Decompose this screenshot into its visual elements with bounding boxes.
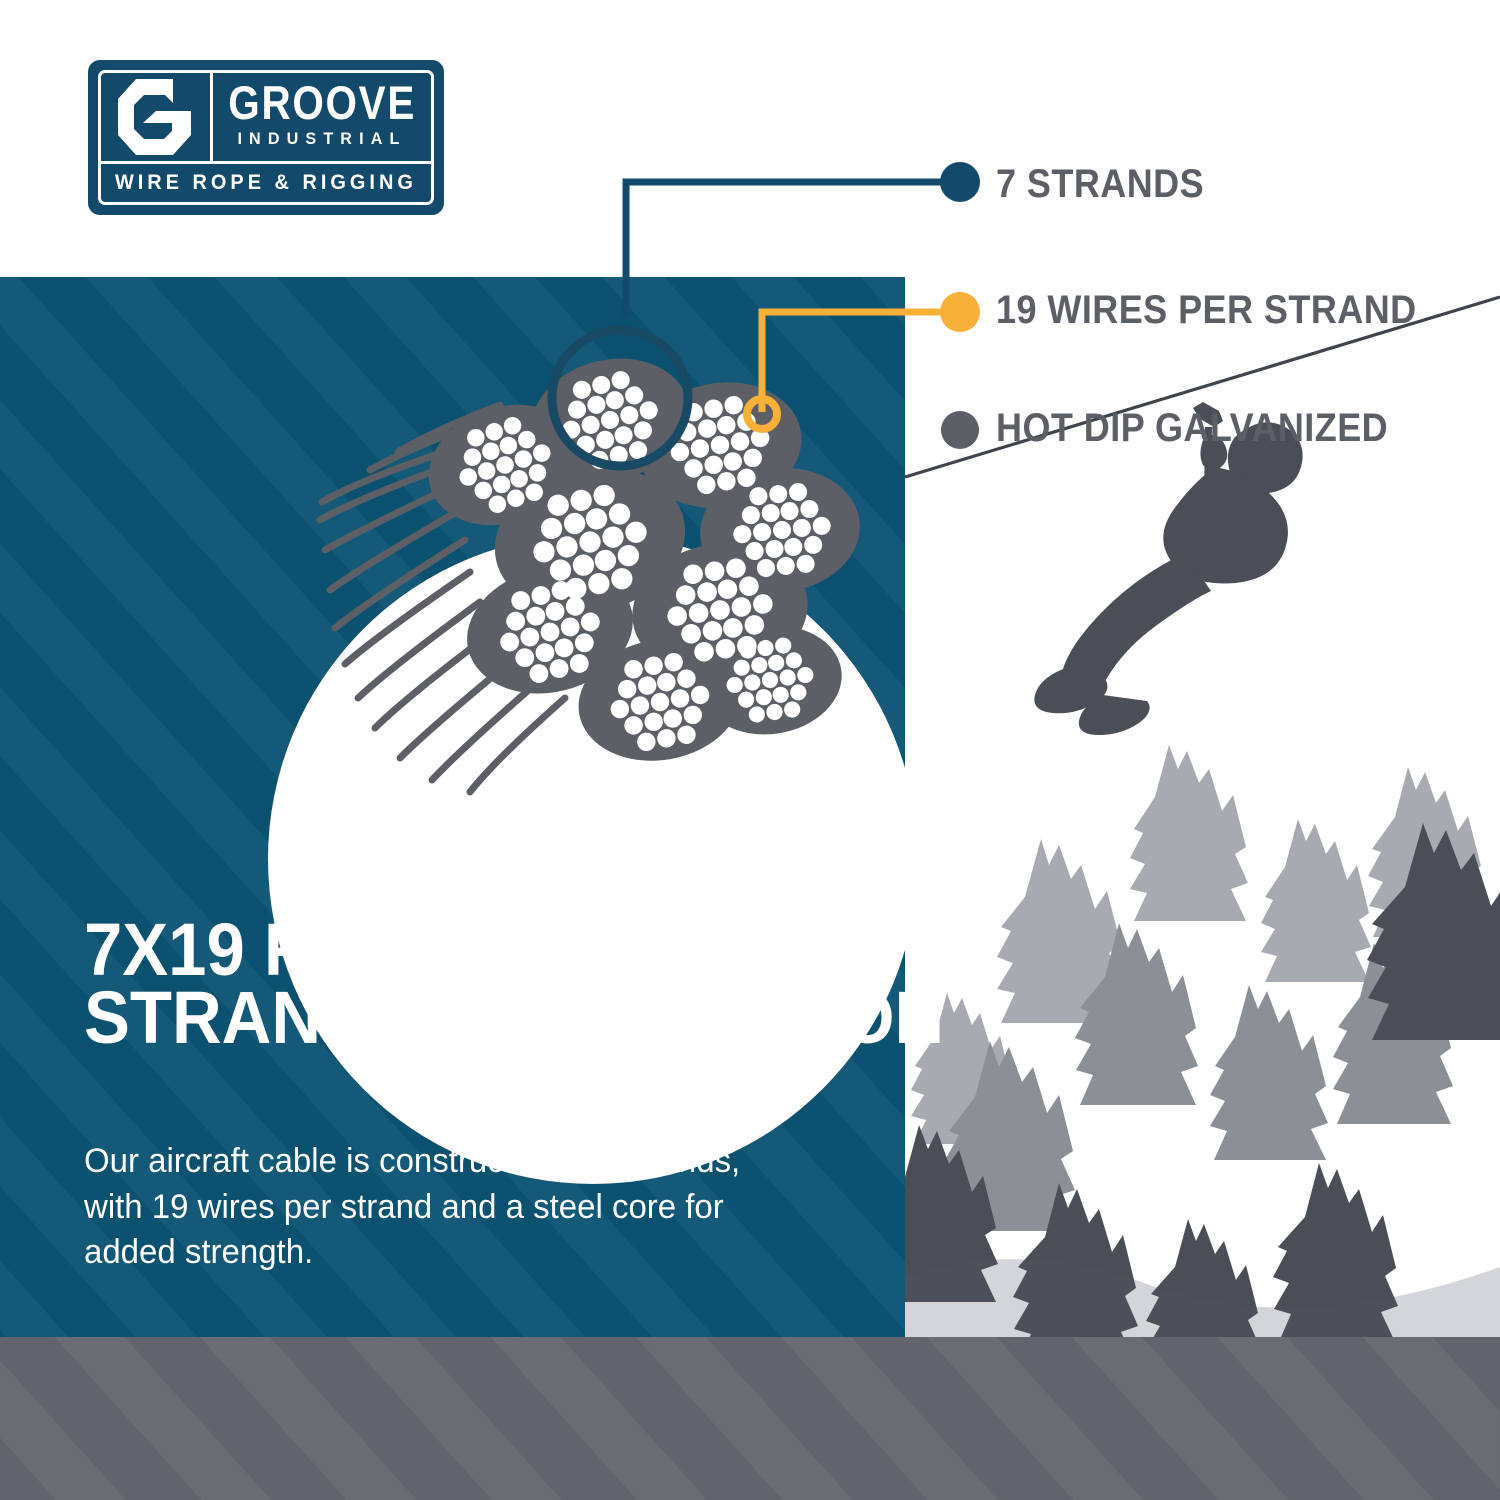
headline-line-1: 7X19 FLEXIBLE [84,916,828,984]
callout-dot-3 [941,411,979,449]
callout-label-galvanized: HOT DIP GALVANIZED [996,406,1388,451]
callout-group: 7 STRANDS 19 WIRES PER STRAND HOT DIP GA… [0,0,1500,520]
headline-line-2: STRAND CONSTRUCTION [84,984,828,1052]
body-paragraph: Our aircraft cable is constructed of 7 s… [84,1139,753,1276]
callout-dot-1 [940,162,980,202]
infographic-canvas: GROOVE INDUSTRIAL WIRE ROPE & RIGGING [0,0,1500,1500]
callout-connector-1 [626,182,950,318]
bottom-gray-band [0,1337,1500,1500]
callout-label-wires: 19 WIRES PER STRAND [996,288,1417,333]
band-stripe-texture [0,1337,1500,1500]
callout-dot-2 [940,292,980,332]
callout-connector-2 [762,312,950,412]
callout-label-strands: 7 STRANDS [996,162,1204,207]
headline: 7X19 FLEXIBLE STRAND CONSTRUCTION [84,916,828,1052]
